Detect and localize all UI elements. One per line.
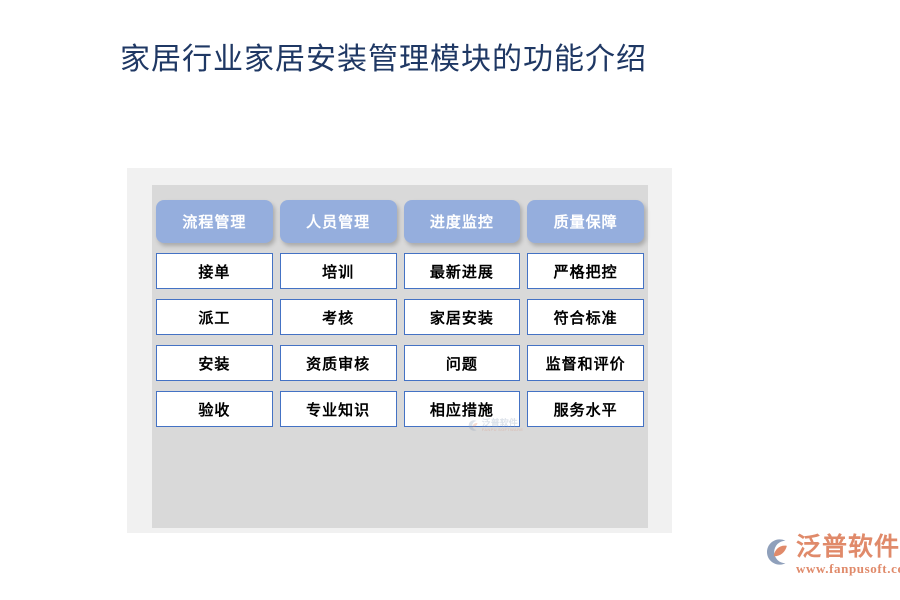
diagram-inner-panel: 流程管理 人员管理 进度监控 质量保障 接单 培训 最新进展 严格把控 派工 考… xyxy=(152,185,648,528)
fanpu-watermark-text: 泛普软件 FANPU SOFTWARE xyxy=(482,419,524,432)
matrix-cell[interactable]: 服务水平 xyxy=(527,391,644,427)
fanpu-logo-icon xyxy=(467,419,480,432)
matrix-cell[interactable]: 专业知识 xyxy=(280,391,397,427)
matrix-cell[interactable]: 最新进展 xyxy=(404,253,521,289)
function-matrix: 流程管理 人员管理 进度监控 质量保障 接单 培训 最新进展 严格把控 派工 考… xyxy=(156,200,644,427)
fanpu-watermark-en: FANPU SOFTWARE xyxy=(482,428,524,432)
category-header-process[interactable]: 流程管理 xyxy=(156,200,273,243)
matrix-cell[interactable]: 接单 xyxy=(156,253,273,289)
matrix-header-row: 流程管理 人员管理 进度监控 质量保障 xyxy=(156,200,644,243)
brand-text: 泛普软件 www.fanpusoft.com xyxy=(796,534,900,575)
matrix-row: 接单 培训 最新进展 严格把控 xyxy=(156,253,644,289)
matrix-row: 派工 考核 家居安装 符合标准 xyxy=(156,299,644,335)
matrix-cell[interactable]: 考核 xyxy=(280,299,397,335)
matrix-cell-label: 相应措施 xyxy=(430,399,494,420)
fanpu-watermark: 泛普软件 FANPU SOFTWARE xyxy=(467,419,524,432)
matrix-row: 验收 专业知识 相应措施 泛普软件 FANPU SOFTWARE xyxy=(156,391,644,427)
brand-url: www.fanpusoft.com xyxy=(796,562,900,575)
matrix-row: 安装 资质审核 问题 监督和评价 xyxy=(156,345,644,381)
matrix-cell[interactable]: 安装 xyxy=(156,345,273,381)
brand-logo: 泛普软件 www.fanpusoft.com xyxy=(762,534,900,575)
diagram-outer-panel: 流程管理 人员管理 进度监控 质量保障 接单 培训 最新进展 严格把控 派工 考… xyxy=(127,168,672,533)
fanpu-logo-icon xyxy=(762,537,792,567)
page-title: 家居行业家居安装管理模块的功能介绍 xyxy=(120,34,647,78)
fanpu-watermark-cn: 泛普软件 xyxy=(482,419,524,428)
category-header-quality[interactable]: 质量保障 xyxy=(527,200,644,243)
matrix-cell[interactable]: 家居安装 xyxy=(404,299,521,335)
matrix-cell[interactable]: 相应措施 泛普软件 FANPU SOFTWARE xyxy=(404,391,521,427)
category-header-personnel[interactable]: 人员管理 xyxy=(280,200,397,243)
matrix-cell[interactable]: 派工 xyxy=(156,299,273,335)
brand-name: 泛普软件 xyxy=(796,534,900,559)
matrix-cell[interactable]: 监督和评价 xyxy=(527,345,644,381)
matrix-cell[interactable]: 符合标准 xyxy=(527,299,644,335)
matrix-cell[interactable]: 验收 xyxy=(156,391,273,427)
matrix-cell[interactable]: 资质审核 xyxy=(280,345,397,381)
matrix-cell[interactable]: 培训 xyxy=(280,253,397,289)
matrix-cell[interactable]: 严格把控 xyxy=(527,253,644,289)
matrix-cell[interactable]: 问题 xyxy=(404,345,521,381)
category-header-progress[interactable]: 进度监控 xyxy=(404,200,521,243)
